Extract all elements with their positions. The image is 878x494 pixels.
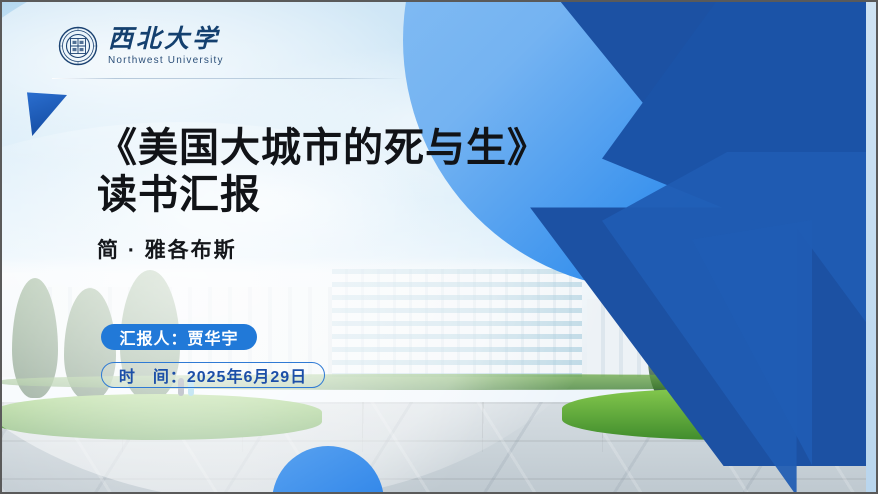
right-edge-strip: [866, 2, 876, 492]
university-name-en: Northwest University: [108, 56, 224, 66]
university-seal-icon: [58, 26, 98, 66]
presentation-slide: 西北大学 Northwest University 《美国大城市的死与生》 读书…: [0, 0, 878, 494]
university-logo: 西北大学 Northwest University: [58, 26, 224, 66]
university-name-cn: 西北大学: [108, 27, 224, 52]
slide-subtitle: 读书汇报: [97, 173, 548, 218]
date-badge: 时 间：2025年6月29日: [101, 362, 325, 388]
info-badges: 汇报人：贾华宇 时 间：2025年6月29日: [101, 324, 325, 388]
book-author: 简 · 雅各布斯: [97, 234, 548, 264]
university-wordmark: 西北大学 Northwest University: [108, 27, 224, 66]
presenter-badge: 汇报人：贾华宇: [101, 324, 257, 350]
header-divider: [52, 78, 404, 79]
slide-title: 《美国大城市的死与生》: [97, 126, 548, 171]
title-block: 《美国大城市的死与生》 读书汇报 简 · 雅各布斯: [97, 126, 548, 264]
